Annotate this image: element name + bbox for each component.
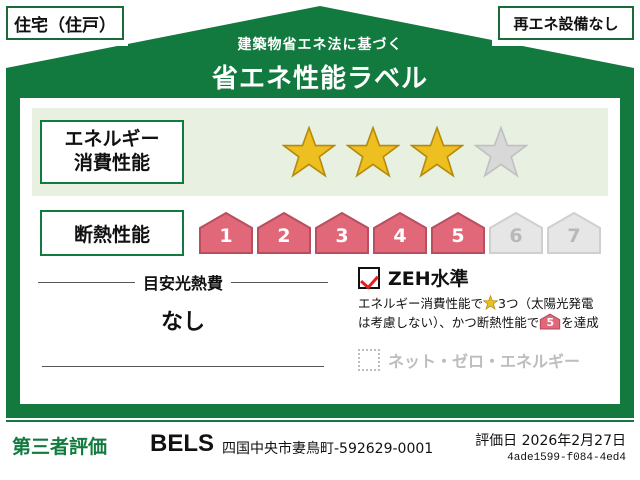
cost-rule-right xyxy=(231,282,328,283)
insulation-performance-caption: 断熱性能 xyxy=(40,210,184,256)
insulation-grade-3-label: 3 xyxy=(314,210,370,256)
utility-cost-heading: 目安光熱費 xyxy=(38,270,328,294)
label-title: 省エネ性能ラベル xyxy=(0,58,640,95)
cost-rule-left xyxy=(38,282,135,283)
zeh-title: ZEH水準 xyxy=(388,264,469,291)
energy-caption-line1: エネルギー xyxy=(64,128,159,152)
footer-divider xyxy=(6,420,634,422)
energy-performance-row: エネルギー 消費性能 xyxy=(32,108,608,196)
insulation-grade-1-label: 1 xyxy=(198,210,254,256)
zeh-desc-part1: エネルギー消費性能で xyxy=(358,296,483,311)
document-id: 4ade1599-f084-4ed4 xyxy=(507,452,626,464)
insulation-grade-scale: 1 2 3 4 5 xyxy=(184,210,608,256)
zeh-desc-part4: を達成 xyxy=(561,315,599,330)
insulation-grade-5: 5 xyxy=(430,210,486,256)
utility-cost-value: なし xyxy=(38,304,328,336)
insulation-grade-2: 2 xyxy=(256,210,312,256)
zeh-grade-badge-label: 5 xyxy=(539,313,561,330)
zeh-desc-part2: 3つ（太陽光発電 xyxy=(498,296,593,311)
star-filled-icon xyxy=(346,125,400,179)
insulation-grade-1: 1 xyxy=(198,210,254,256)
insulation-grade-7: 7 xyxy=(546,210,602,256)
star-filled-icon xyxy=(410,125,464,179)
insulation-performance-row: 断熱性能 1 2 3 4 xyxy=(32,202,608,264)
insulation-grade-4: 4 xyxy=(372,210,428,256)
third-party-evaluation-label: 第三者評価 xyxy=(12,432,107,459)
insulation-grade-6: 6 xyxy=(488,210,544,256)
bels-brand: BELS xyxy=(150,430,214,458)
zeh-check-icon xyxy=(358,267,380,289)
energy-caption-line2: 消費性能 xyxy=(74,152,150,176)
star-rating xyxy=(184,125,608,179)
mini-star-icon xyxy=(483,295,498,310)
star-filled-icon xyxy=(282,125,336,179)
zeh-desc-part3: は考慮しない）、かつ断熱性能で xyxy=(358,315,539,330)
label-footer: 第三者評価 BELS 四国中央市妻鳥町-592629-0001 評価日 2026… xyxy=(0,420,640,480)
net-zero-energy-label: ネット・ゼロ・エネルギー xyxy=(388,348,580,372)
evaluation-date: 評価日 2026年2月27日 xyxy=(475,430,626,450)
zeh-description: エネルギー消費性能で3つ（太陽光発電 は考慮しない）、かつ断熱性能で5を達成 xyxy=(358,294,610,333)
cost-divider xyxy=(42,366,324,367)
insulation-grade-2-label: 2 xyxy=(256,210,312,256)
energy-performance-label: 住宅（住戸） 再エネ設備なし 建築物省エネ法に基づく 省エネ性能ラベル エネルギ… xyxy=(0,0,640,480)
utility-cost-heading-text: 目安光熱費 xyxy=(143,270,223,294)
property-address: 四国中央市妻鳥町-592629-0001 xyxy=(222,438,433,458)
star-empty-icon xyxy=(474,125,528,179)
energy-performance-caption: エネルギー 消費性能 xyxy=(40,120,184,184)
title-block: 建築物省エネ法に基づく 省エネ性能ラベル xyxy=(0,34,640,95)
zeh-heading: ZEH水準 xyxy=(358,264,469,291)
insulation-grade-5-label: 5 xyxy=(430,210,486,256)
insulation-grade-3: 3 xyxy=(314,210,370,256)
net-zero-checkbox-icon xyxy=(358,349,380,371)
zeh-grade-badge: 5 xyxy=(539,313,561,330)
insulation-grade-6-label: 6 xyxy=(488,210,544,256)
insulation-grade-4-label: 4 xyxy=(372,210,428,256)
net-zero-energy-row: ネット・ゼロ・エネルギー xyxy=(358,348,580,372)
label-subtitle: 建築物省エネ法に基づく xyxy=(0,34,640,54)
insulation-grade-7-label: 7 xyxy=(546,210,602,256)
label-card: エネルギー 消費性能 断熱性能 xyxy=(20,98,620,404)
